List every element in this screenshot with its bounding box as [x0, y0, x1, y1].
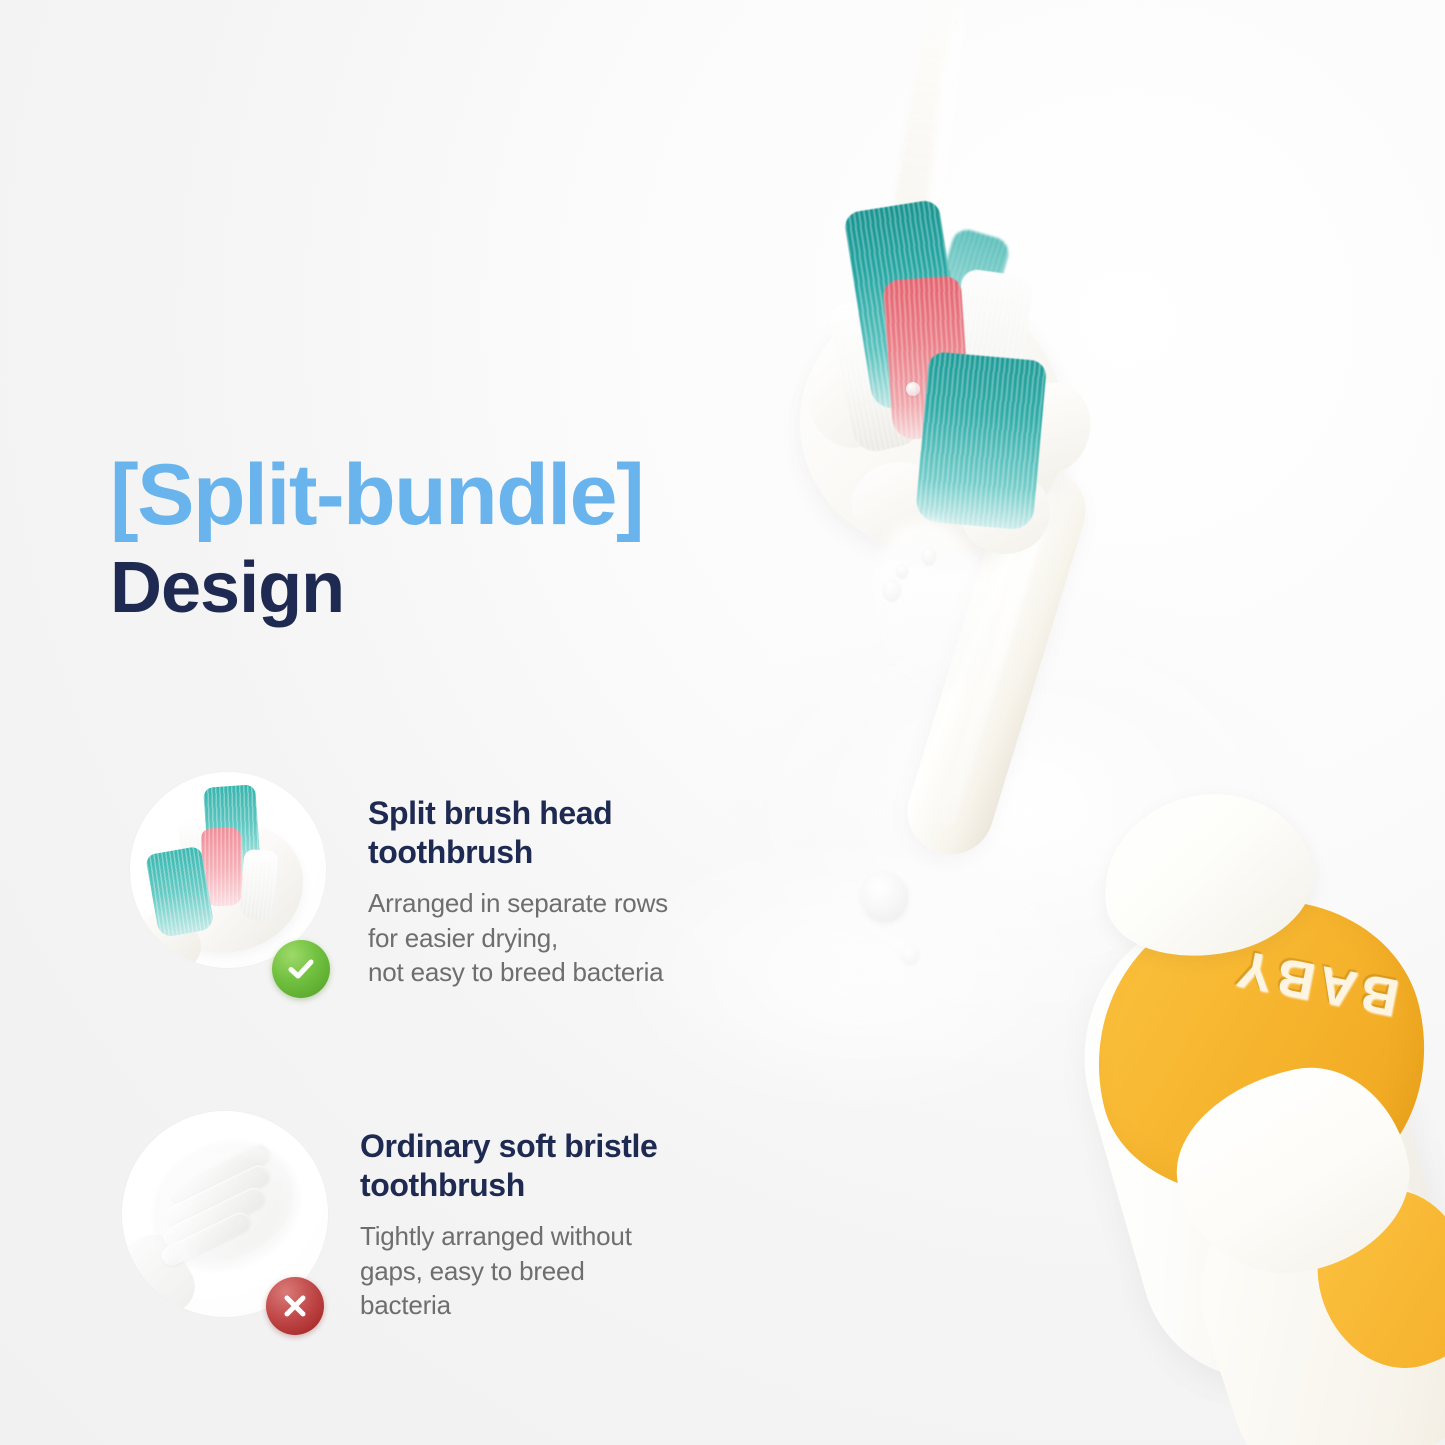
cross-icon [266, 1277, 324, 1335]
feature-item-split-brush-head: Split brush head toothbrush Arranged in … [130, 772, 668, 1000]
headline: [Split-bundle] Design [110, 452, 810, 629]
feature-text-block: Ordinary soft bristle toothbrush Tightly… [360, 1105, 657, 1323]
water-droplet [897, 565, 907, 577]
feature-text-block: Split brush head toothbrush Arranged in … [368, 772, 668, 990]
feature-title: Split brush head toothbrush [368, 794, 668, 872]
water-droplet [884, 580, 900, 600]
feature-description: Arranged in separate rows for easier dry… [368, 886, 668, 990]
thumb-bristle-tuft-white [240, 849, 279, 921]
headline-line-1: [Split-bundle] [110, 452, 810, 538]
feature-thumbnail-wrap [118, 1105, 330, 1333]
feature-thumbnail-wrap [130, 772, 342, 1000]
bristle-tuft-teal [915, 351, 1047, 531]
product-feature-image: BABY [Split-bundle] Design [0, 0, 1445, 1445]
feature-item-ordinary-toothbrush: Ordinary soft bristle toothbrush Tightly… [118, 1105, 657, 1333]
split-brush-head-thumbnail [130, 772, 326, 968]
check-icon [272, 940, 330, 998]
feature-description: Tightly arranged without gaps, easy to b… [360, 1219, 657, 1323]
headline-line-2: Design [110, 548, 810, 629]
water-droplet [906, 382, 920, 396]
water-droplet [923, 548, 935, 564]
feature-title: Ordinary soft bristle toothbrush [360, 1127, 657, 1205]
